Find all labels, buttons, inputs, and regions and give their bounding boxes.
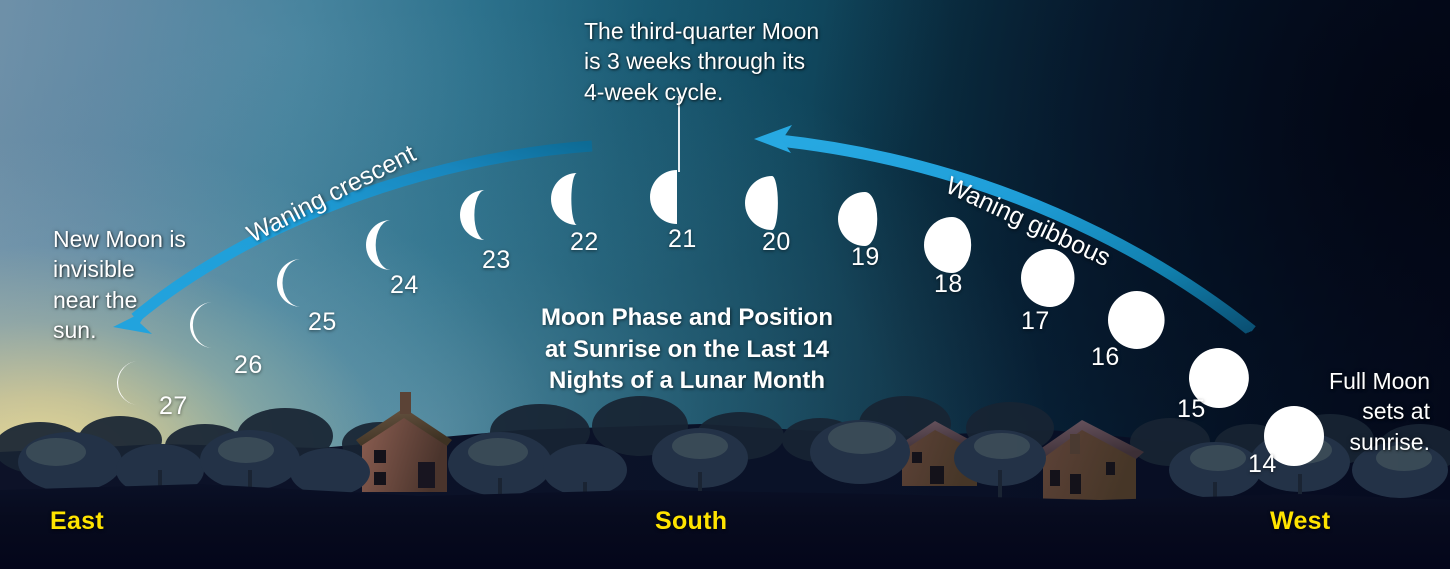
moon-number-16: 16: [1091, 343, 1120, 372]
moon-number-22: 22: [570, 228, 599, 257]
moon-number-19: 19: [851, 243, 880, 272]
moon-phase-27: [113, 357, 165, 409]
moon-phase-20: [741, 172, 803, 234]
diagram-title: Moon Phase and Position at Sunrise on th…: [527, 302, 847, 397]
moon-number-20: 20: [762, 228, 791, 257]
callout-new-moon: New Moon is invisible near the sun.: [53, 224, 186, 345]
moon-number-18: 18: [934, 270, 963, 299]
compass-label-west: West: [1270, 507, 1330, 536]
moon-phase-26: [186, 298, 240, 352]
moon-phase-23: [456, 186, 514, 244]
moon-number-27: 27: [159, 392, 188, 421]
moon-number-26: 26: [234, 351, 263, 380]
moon-number-14: 14: [1248, 450, 1277, 479]
moon-number-23: 23: [482, 246, 511, 275]
callout-full-moon: Full Moon sets at sunrise.: [1300, 366, 1430, 457]
callout-third-quarter: The third-quarter Moon is 3 weeks throug…: [584, 16, 819, 107]
moon-phase-18: [920, 213, 984, 277]
compass-label-south: South: [655, 507, 727, 536]
moon-phase-22: [547, 169, 607, 229]
house-east: [356, 392, 452, 492]
moon-number-24: 24: [390, 271, 419, 300]
moon-phase-25: [273, 255, 329, 311]
moon-phase-24: [362, 216, 420, 274]
moon-phase-19: [834, 188, 896, 250]
moon-number-21: 21: [668, 225, 697, 254]
moon-phase-17: [1017, 245, 1083, 311]
compass-label-east: East: [50, 507, 104, 536]
moon-number-17: 17: [1021, 307, 1050, 336]
moon-phase-21: [646, 166, 708, 228]
moon-phase-diagram: Waning crescent Waning gibbous: [0, 0, 1450, 569]
third-quarter-leader-line: [678, 96, 680, 172]
moon-number-25: 25: [308, 308, 337, 337]
moon-number-15: 15: [1177, 395, 1206, 424]
